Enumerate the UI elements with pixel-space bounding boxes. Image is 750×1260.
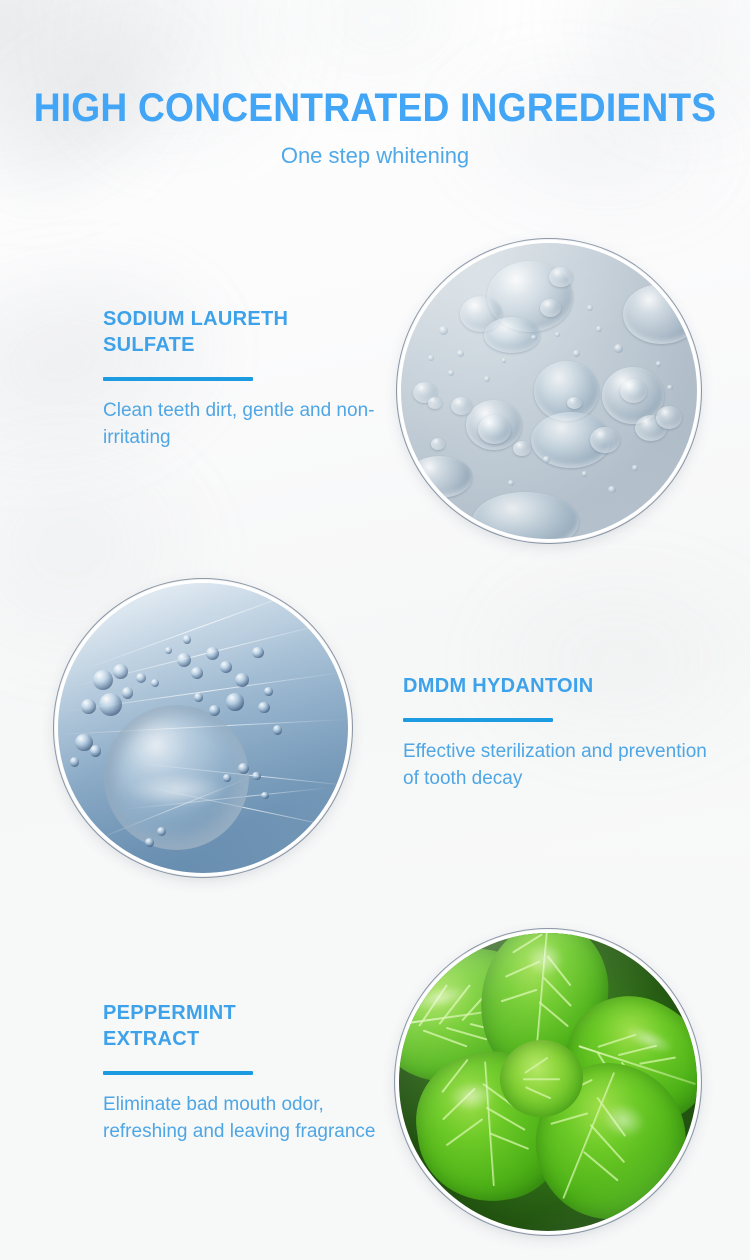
page-subtitle: One step whitening xyxy=(0,143,750,169)
infographic-page: HIGH CONCENTRATED INGREDIENTS One step w… xyxy=(0,0,750,1260)
page-title: HIGH CONCENTRATED INGREDIENTS xyxy=(26,88,724,128)
ingredient-description: Effective sterilization and prevention o… xyxy=(403,738,713,792)
ingredient-block-sodium-laureth-sulfate: SODIUM LAURETH SULFATE Clean teeth dirt,… xyxy=(103,306,403,451)
ingredient-name-line-1: SODIUM LAURETH xyxy=(103,308,288,330)
ingredient-image-sodium-laureth-sulfate xyxy=(398,240,700,542)
ingredient-description: Eliminate bad mouth odor, refreshing and… xyxy=(103,1091,403,1145)
ingredient-name: SODIUM LAURETH SULFATE xyxy=(103,306,403,358)
page-header: HIGH CONCENTRATED INGREDIENTS One step w… xyxy=(0,88,750,169)
water-droplet-artwork xyxy=(58,583,348,873)
ingredient-name-line-2: EXTRACT xyxy=(103,1028,200,1050)
gel-bubbles-artwork xyxy=(401,243,697,539)
ingredient-block-peppermint-extract: PEPPERMINT EXTRACT Eliminate bad mouth o… xyxy=(103,1000,403,1145)
ingredient-description: Clean teeth dirt, gentle and non-irritat… xyxy=(103,397,403,451)
ingredient-image-dmdm-hydantoin xyxy=(55,580,351,876)
ingredient-name: DMDM HYDANTOIN xyxy=(403,673,713,699)
peppermint-leaves-artwork xyxy=(399,933,697,1231)
ingredient-name-line-1: PEPPERMINT xyxy=(103,1002,236,1024)
ingredient-name-line-2: SULFATE xyxy=(103,334,195,356)
ingredient-divider xyxy=(403,718,553,722)
ingredient-image-peppermint-extract xyxy=(396,930,700,1234)
ingredient-divider xyxy=(103,1071,253,1075)
ingredient-block-dmdm-hydantoin: DMDM HYDANTOIN Effective sterilization a… xyxy=(403,673,713,792)
ingredient-name: PEPPERMINT EXTRACT xyxy=(103,1000,403,1052)
ingredient-divider xyxy=(103,377,253,381)
